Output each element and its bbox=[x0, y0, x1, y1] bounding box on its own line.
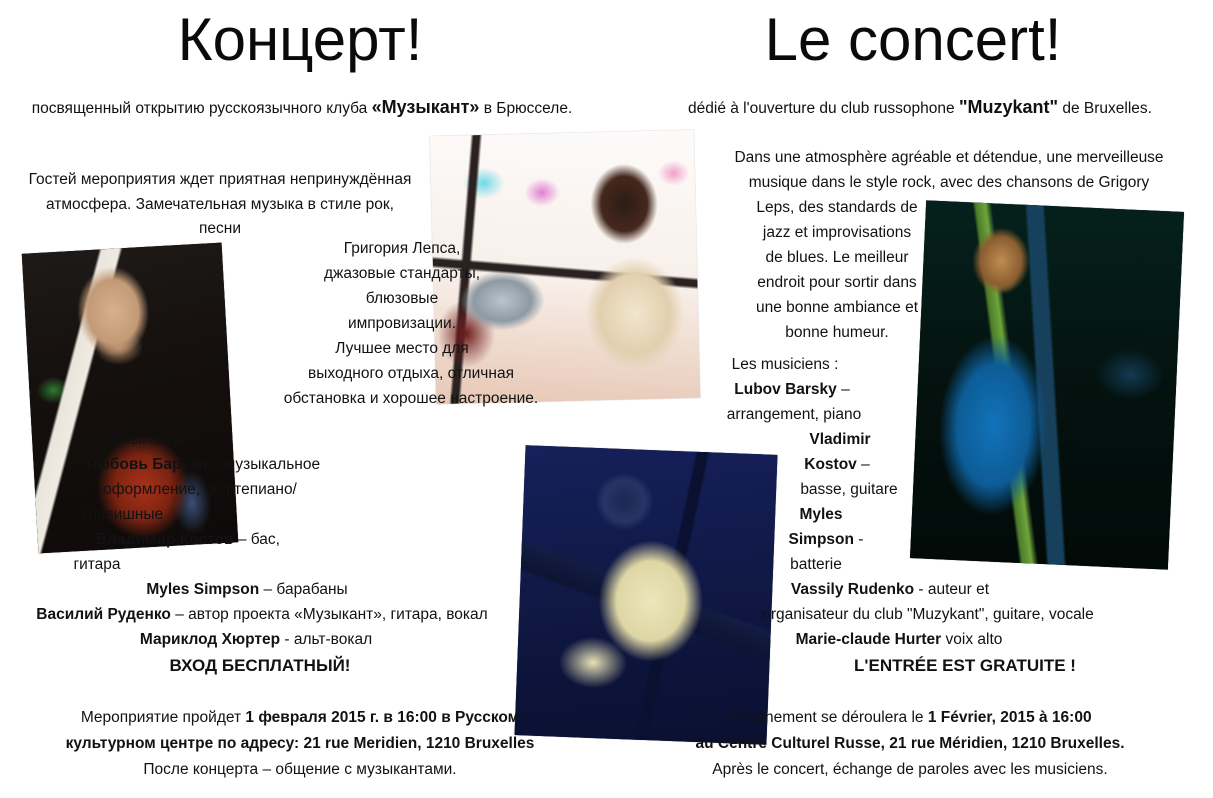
russian-music-line: блюзовые bbox=[236, 286, 568, 311]
french-title: Le concert! bbox=[613, 10, 1213, 70]
list-item: Simpson - bbox=[700, 527, 1160, 552]
list-item: Мариклод Хюртер - альт-вокал bbox=[16, 627, 508, 652]
musician-role: batterie bbox=[790, 556, 842, 573]
list-item: клавишные bbox=[16, 502, 508, 527]
french-venue-line-3: Après le concert, échange de paroles ave… bbox=[620, 757, 1200, 783]
musician-name: Мариклод Хюртер bbox=[140, 631, 280, 648]
french-venue-details: L'événement se déroulera le 1 Février, 2… bbox=[620, 705, 1200, 783]
french-intro-paragraph: Dans une atmosphère agréable et détendue… bbox=[720, 145, 1178, 345]
french-intro-line: endroit pour sortir dans bbox=[720, 270, 1178, 295]
french-musicians-heading: Les musiciens : bbox=[700, 352, 1160, 377]
russian-intro-line: Гостей мероприятия ждет приятная неприну… bbox=[10, 168, 430, 193]
russian-music-line: выходного отдыха, отличная bbox=[236, 361, 568, 386]
musician-role: – бас, bbox=[234, 531, 280, 548]
musician-name: Любовь Барски bbox=[86, 456, 207, 473]
french-free-entry-banner: L'ENTRÉE EST GRATUITE ! bbox=[790, 656, 1140, 676]
french-intro-line: Leps, des standards de bbox=[720, 195, 1178, 220]
musician-name: Simpson bbox=[789, 531, 854, 548]
russian-venue-line-1: Мероприятие пройдет 1 февраля 2015 г. в … bbox=[10, 705, 590, 731]
list-item: Myles Simpson – барабаны bbox=[16, 577, 508, 602]
musician-role: - альт-вокал bbox=[280, 631, 372, 648]
french-musicians-list: Les musiciens : Lubov Barsky – arrangeme… bbox=[700, 352, 1160, 652]
russian-music-description: Григория Лепса, джазовые стандарты, блюз… bbox=[236, 236, 568, 411]
russian-venue-details: Мероприятие пройдет 1 февраля 2015 г. в … bbox=[10, 705, 590, 783]
russian-subtitle: посвященный открытию русскоязычного клуб… bbox=[22, 95, 582, 121]
musician-role: – bbox=[837, 381, 850, 398]
musician-role: гитара bbox=[73, 556, 120, 573]
russian-music-line: Лучшее место для bbox=[236, 336, 568, 361]
french-intro-line: de blues. Le meilleur bbox=[720, 245, 1178, 270]
list-item: Василий Руденко – автор проекта «Музыкан… bbox=[16, 602, 508, 627]
french-intro-line: Dans une atmosphère agréable et détendue… bbox=[720, 145, 1178, 170]
list-item: basse, guitare bbox=[700, 477, 1160, 502]
russian-music-line: импровизации. bbox=[236, 311, 568, 336]
musician-name: Василий Руденко bbox=[36, 606, 171, 623]
musician-role: – барабаны bbox=[259, 581, 347, 598]
musician-name: Vassily Rudenko bbox=[791, 581, 914, 598]
russian-title: Концерт! bbox=[0, 10, 600, 70]
concert-poster: Концерт! посвященный открытию русскоязыч… bbox=[0, 0, 1213, 798]
russian-musicians-list: Музыканты: Любовь Барски – музыкальное о… bbox=[16, 427, 508, 652]
russian-music-line: обстановка и хорошее настроение. bbox=[236, 386, 568, 411]
russian-subtitle-part1: посвященный открытию русскоязычного клуб… bbox=[32, 100, 372, 117]
russian-intro-paragraph: Гостей мероприятия ждет приятная неприну… bbox=[10, 168, 430, 242]
list-item: organisateur du club "Muzykant", guitare… bbox=[700, 602, 1160, 627]
musician-name: Lubov Barsky bbox=[734, 381, 837, 398]
musician-role: - bbox=[854, 531, 863, 548]
list-item: batterie bbox=[700, 552, 1160, 577]
list-item: гитара bbox=[16, 552, 508, 577]
list-item: Myles bbox=[700, 502, 1160, 527]
list-item: Владимир Костов – бас, bbox=[16, 527, 508, 552]
french-subtitle-part1: dédié à l'ouverture du club russophone bbox=[688, 100, 959, 117]
french-intro-line: bonne humeur. bbox=[720, 320, 1178, 345]
musician-role: оформление, фортепиано/ bbox=[103, 481, 297, 498]
musician-role: – bbox=[857, 456, 870, 473]
musician-role: voix alto bbox=[941, 631, 1002, 648]
venue-datetime: 1 февраля 2015 г. в 16:00 в Русском bbox=[245, 709, 519, 726]
french-intro-line: une bonne ambiance et bbox=[720, 295, 1178, 320]
list-item: Vassily Rudenko - auteur et bbox=[700, 577, 1160, 602]
list-item: Marie-claude Hurter voix alto bbox=[700, 627, 1160, 652]
list-item: Lubov Barsky – bbox=[700, 377, 1160, 402]
musician-role: - auteur et bbox=[914, 581, 989, 598]
musician-role: organisateur du club "Muzykant", guitare… bbox=[762, 606, 1094, 623]
musician-name: Kostov bbox=[804, 456, 857, 473]
french-club-name: "Muzykant" bbox=[959, 97, 1058, 117]
russian-intro-line: атмосфера. Замечательная музыка в стиле … bbox=[10, 193, 430, 218]
musician-role: – автор проекта «Музыкант», гитара, вока… bbox=[171, 606, 488, 623]
list-item: Kostov – bbox=[700, 452, 1160, 477]
venue-prefix: L'événement se déroulera le bbox=[728, 709, 927, 726]
russian-venue-line-2: культурном центре по адресу: 21 rue Meri… bbox=[10, 731, 590, 757]
list-item: arrangement, piano bbox=[700, 402, 1160, 427]
venue-datetime: 1 Février, 2015 à 16:00 bbox=[928, 709, 1092, 726]
russian-club-name: «Музыкант» bbox=[372, 97, 480, 117]
russian-musicians-heading: Музыканты: bbox=[16, 427, 508, 452]
list-item: Любовь Барски – музыкальное bbox=[16, 452, 508, 477]
russian-music-line: Григория Лепса, bbox=[236, 236, 568, 261]
musician-name: Marie-claude Hurter bbox=[796, 631, 942, 648]
musician-name: Владимир Костов bbox=[96, 531, 234, 548]
french-venue-line-2: au Centre Culturel Russe, 21 rue Méridie… bbox=[620, 731, 1200, 757]
musician-role: клавишные bbox=[81, 506, 163, 523]
musician-role: arrangement, piano bbox=[727, 406, 861, 423]
musician-name: Myles Simpson bbox=[146, 581, 259, 598]
french-venue-line-1: L'événement se déroulera le 1 Février, 2… bbox=[620, 705, 1200, 731]
russian-music-line: джазовые стандарты, bbox=[236, 261, 568, 286]
list-item: оформление, фортепиано/ bbox=[16, 477, 508, 502]
musician-role: – музыкальное bbox=[207, 456, 320, 473]
french-intro-line: musique dans le style rock, avec des cha… bbox=[720, 170, 1178, 195]
musician-role: basse, guitare bbox=[800, 481, 897, 498]
french-subtitle: dédié à l'ouverture du club russophone "… bbox=[640, 95, 1200, 121]
venue-prefix: Мероприятие пройдет bbox=[81, 709, 246, 726]
russian-subtitle-part2: в Брюсселе. bbox=[479, 100, 572, 117]
list-item: Vladimir bbox=[700, 427, 1160, 452]
russian-free-entry-banner: ВХОД БЕСПЛАТНЫЙ! bbox=[80, 656, 440, 676]
french-subtitle-part2: de Bruxelles. bbox=[1058, 100, 1152, 117]
french-intro-line: jazz et improvisations bbox=[720, 220, 1178, 245]
russian-venue-line-3: После концерта – общение с музыкантами. bbox=[10, 757, 590, 783]
